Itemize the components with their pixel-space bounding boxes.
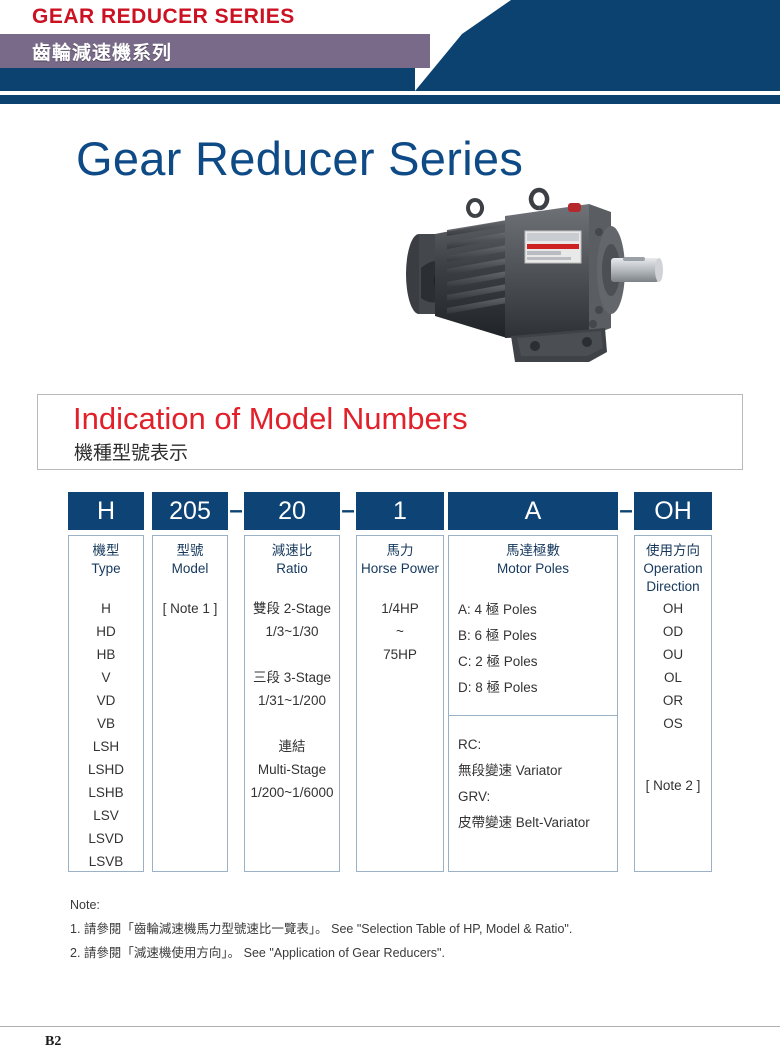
column-type-head-en: Type <box>69 560 143 578</box>
list-item: OS <box>635 712 711 735</box>
column-motor-poles-head-en: Motor Poles <box>449 560 617 578</box>
code-box-type: H <box>68 492 144 530</box>
code-box-motor-poles: A <box>448 492 618 530</box>
list-item: 1/200~1/6000 <box>245 781 339 804</box>
list-item: LSHB <box>69 781 143 804</box>
code-box-ratio: 20 <box>244 492 340 530</box>
code-dash-1: – <box>229 492 243 530</box>
notes-label: Note: <box>70 893 730 917</box>
list-item: VB <box>69 712 143 735</box>
column-operation-direction-head-en: Operation <box>635 560 711 578</box>
gear-reducer-product-image <box>375 186 671 366</box>
column-model-head-cn: 型號 <box>153 542 227 560</box>
list-item: 1/31~1/200 <box>245 689 339 712</box>
list-item: D: 8 極 Poles <box>458 675 617 701</box>
code-dash-2: – <box>341 492 355 530</box>
list-item: B: 6 極 Poles <box>458 623 617 649</box>
code-box-operation-direction: OH <box>634 492 712 530</box>
column-horse-power-head-cn: 馬力 <box>357 542 443 560</box>
list-item: C: 2 極 Poles <box>458 649 617 675</box>
column-operation-direction-head-en2: Direction <box>635 578 711 596</box>
list-item: ~ <box>357 620 443 643</box>
column-type-head-cn: 機型 <box>69 542 143 560</box>
column-horse-power: 馬力 Horse Power 1/4HP ~ 75HP <box>356 535 444 872</box>
column-operation-direction-body: OH OD OU OL OR OS <box>635 597 711 735</box>
column-model: 型號 Model [ Note 1 ] <box>152 535 228 872</box>
column-motor-poles-body-2: RC: 無段變速 Variator GRV: 皮帶變速 Belt-Variato… <box>449 732 617 836</box>
code-box-model: 205 <box>152 492 228 530</box>
column-motor-poles-head-cn: 馬達極數 <box>449 542 617 560</box>
header-english-title: GEAR REDUCER SERIES <box>32 5 295 29</box>
list-item: GRV: <box>458 784 617 810</box>
list-item: OH <box>635 597 711 620</box>
header-navy-bar-lower <box>0 95 780 104</box>
note-reference: [ Note 1 ] <box>153 597 227 620</box>
list-item: LSVB <box>69 850 143 873</box>
page-number: B2 <box>45 1034 61 1050</box>
list-item-spacer <box>245 712 339 735</box>
column-operation-direction-head-cn: 使用方向 <box>635 542 711 560</box>
code-box-horse-power: 1 <box>356 492 444 530</box>
motor-poles-divider <box>449 715 617 716</box>
note-line-2: 2. 請參閱「減速機使用方向」。 See "Application of Gea… <box>70 941 730 965</box>
list-item-spacer <box>245 643 339 666</box>
page-title: Gear Reducer Series <box>76 131 523 186</box>
list-item: HD <box>69 620 143 643</box>
column-horse-power-body: 1/4HP ~ 75HP <box>357 597 443 666</box>
note-reference: [ Note 2 ] <box>635 774 711 797</box>
column-operation-direction-body-2: [ Note 2 ] <box>635 774 711 797</box>
column-ratio-body: 雙段 2-Stage 1/3~1/30 三段 3-Stage 1/31~1/20… <box>245 597 339 804</box>
list-item: LSVD <box>69 827 143 850</box>
model-number-table: H 205 – 20 – 1 A – OH 機型 Type H HD HB V … <box>68 492 712 872</box>
column-model-head-en: Model <box>153 560 227 578</box>
column-horse-power-head-en: Horse Power <box>357 560 443 578</box>
list-item: OD <box>635 620 711 643</box>
column-model-body: [ Note 1 ] <box>153 597 227 620</box>
list-item: OR <box>635 689 711 712</box>
column-type: 機型 Type H HD HB V VD VB LSH LSHD LSHB LS… <box>68 535 144 872</box>
list-item: 無段變速 Variator <box>458 758 617 784</box>
footer-divider <box>0 1026 780 1027</box>
code-dash-3: – <box>619 492 633 530</box>
column-motor-poles-body: A: 4 極 Poles B: 6 極 Poles C: 2 極 Poles D… <box>449 597 617 701</box>
list-item: 三段 3-Stage <box>245 666 339 689</box>
header-chinese-title: 齒輪減速機系列 <box>32 38 172 65</box>
column-motor-poles: 馬達極數 Motor Poles A: 4 極 Poles B: 6 極 Pol… <box>448 535 618 872</box>
list-item: 1/4HP <box>357 597 443 620</box>
list-item: 75HP <box>357 643 443 666</box>
notes-block: Note: 1. 請參閱「齒輪減速機馬力型號速比一覽表」。 See "Selec… <box>70 893 730 965</box>
list-item: OL <box>635 666 711 689</box>
list-item: 皮帶變速 Belt-Variator <box>458 810 617 836</box>
section-heading-chinese: 機種型號表示 <box>74 438 188 465</box>
list-item: RC: <box>458 732 617 758</box>
list-item: V <box>69 666 143 689</box>
column-ratio: 減速比 Ratio 雙段 2-Stage 1/3~1/30 三段 3-Stage… <box>244 535 340 872</box>
note-line-1: 1. 請參閱「齒輪減速機馬力型號速比一覽表」。 See "Selection T… <box>70 917 730 941</box>
list-item: Multi-Stage <box>245 758 339 781</box>
list-item: HB <box>69 643 143 666</box>
list-item: A: 4 極 Poles <box>458 597 617 623</box>
list-item: VD <box>69 689 143 712</box>
column-type-body: H HD HB V VD VB LSH LSHD LSHB LSV LSVD L… <box>69 597 143 873</box>
page-header: GEAR REDUCER SERIES 齒輪減速機系列 <box>0 0 780 104</box>
list-item: OU <box>635 643 711 666</box>
list-item: LSHD <box>69 758 143 781</box>
list-item: 雙段 2-Stage <box>245 597 339 620</box>
list-item: LSH <box>69 735 143 758</box>
section-heading-english: Indication of Model Numbers <box>73 401 468 437</box>
list-item: LSV <box>69 804 143 827</box>
column-ratio-head-en: Ratio <box>245 560 339 578</box>
column-operation-direction: 使用方向 Operation Direction OH OD OU OL OR … <box>634 535 712 872</box>
list-item: H <box>69 597 143 620</box>
list-item: 連結 <box>245 735 339 758</box>
list-item: 1/3~1/30 <box>245 620 339 643</box>
column-ratio-head-cn: 減速比 <box>245 542 339 560</box>
